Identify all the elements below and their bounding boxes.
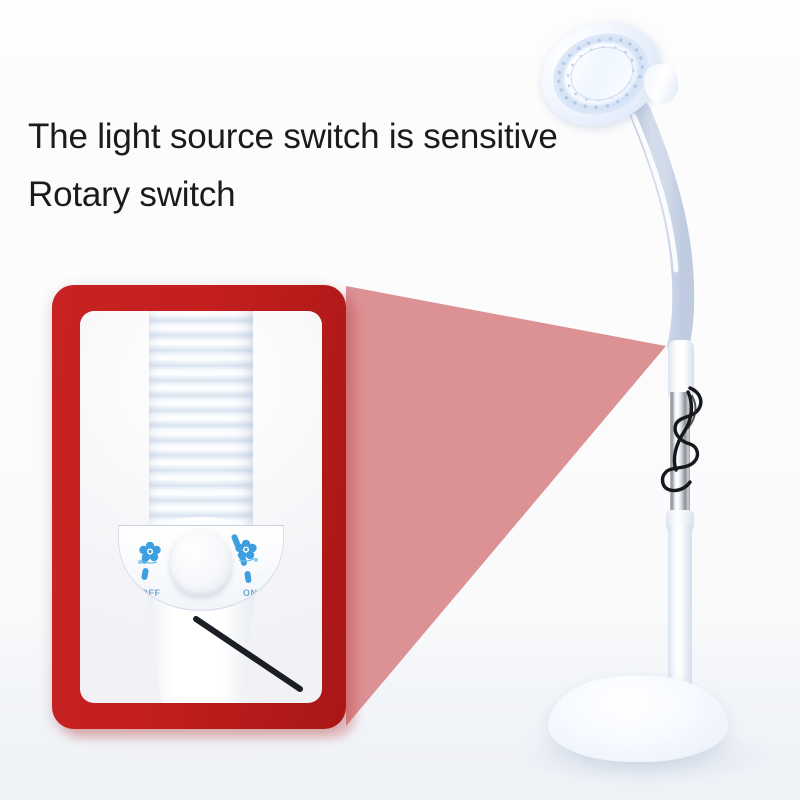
switch-tick-left-2	[141, 568, 149, 581]
lamp-base	[548, 676, 728, 762]
inset-panel-content: OFF ON	[80, 311, 322, 703]
caption-block: The light source switch is sensitive Rot…	[28, 108, 668, 224]
flower-decal-right-icon	[231, 536, 261, 566]
switch-tick-right-3	[244, 571, 252, 584]
zoom-power-cable-icon	[182, 611, 312, 701]
caption-line-2: Rotary switch	[28, 166, 668, 224]
switch-off-label: OFF	[141, 588, 161, 598]
flower-decal-left-icon	[135, 538, 165, 568]
product-photo-canvas: OFF ON The light source switch is sensit…	[0, 0, 800, 800]
rotary-switch-plate[interactable]: OFF ON	[118, 525, 284, 611]
inset-zoom-panel: OFF ON	[52, 285, 346, 729]
switch-on-label: ON	[243, 588, 258, 598]
caption-line-1: The light source switch is sensitive	[28, 108, 668, 166]
rotary-knob[interactable]	[170, 530, 232, 596]
zoom-gooseneck	[149, 311, 253, 541]
